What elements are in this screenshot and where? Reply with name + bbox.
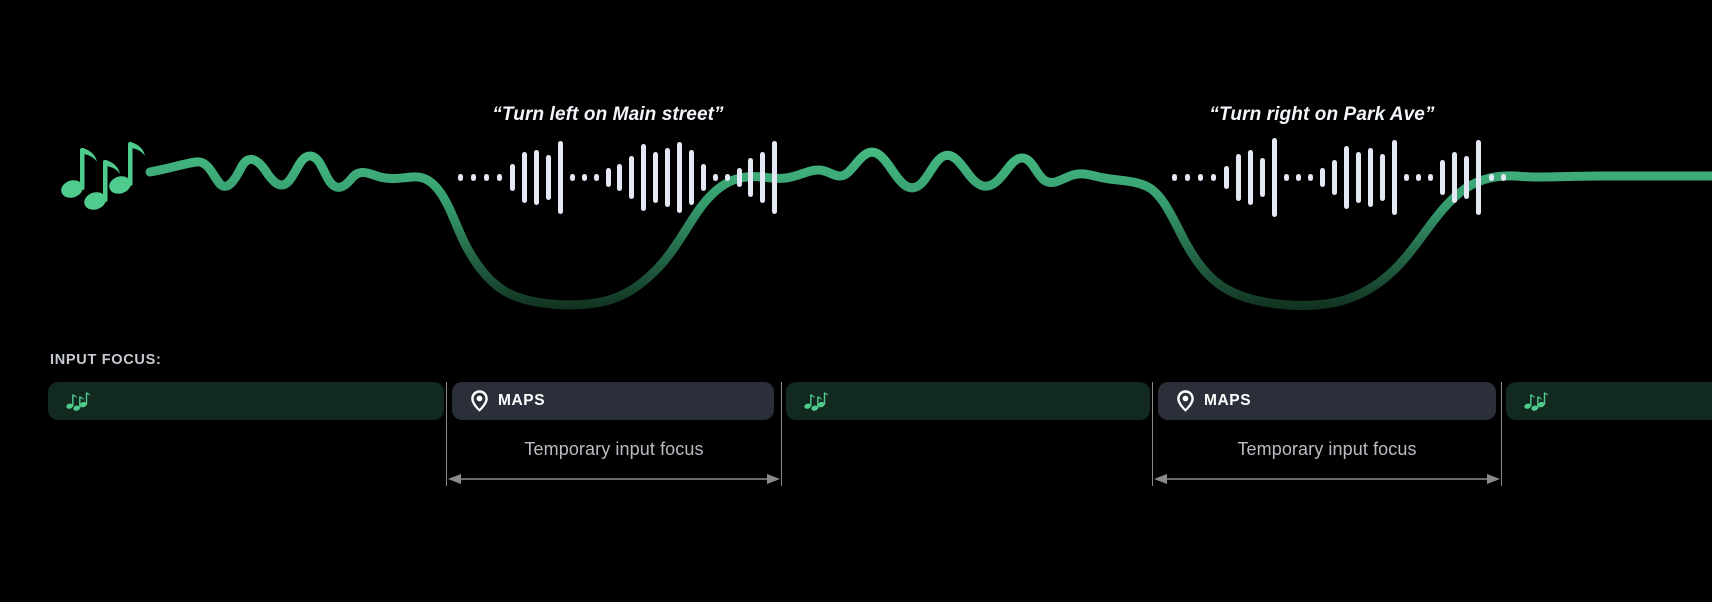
map-pin-icon	[470, 390, 489, 413]
temporary-focus-label-2: Temporary input focus	[1152, 439, 1502, 460]
music-notes-icon	[1524, 391, 1548, 411]
music-notes-icon	[804, 391, 828, 411]
speech-bars-segment-1	[458, 141, 777, 214]
speech-bars-segment-2	[1172, 138, 1506, 217]
focus-track-audio-2[interactable]	[786, 382, 1150, 420]
temporary-focus-label-1: Temporary input focus	[446, 439, 782, 460]
diagram-canvas: “Turn left on Main street” “Turn right o…	[0, 0, 1712, 602]
utterance-label-1: “Turn left on Main street”	[492, 104, 723, 126]
focus-track-audio-3[interactable]	[1506, 382, 1712, 420]
span-double-arrow	[446, 472, 782, 486]
span-edge-right	[1501, 382, 1502, 486]
focus-track-audio-1[interactable]	[48, 382, 444, 420]
span-edge-right	[781, 382, 782, 486]
focus-track-maps-2[interactable]: MAPS	[1158, 382, 1496, 420]
span-edge-left	[446, 382, 447, 486]
utterance-label-2: “Turn right on Park Ave”	[1209, 104, 1434, 126]
input-focus-caption: INPUT FOCUS:	[50, 352, 162, 368]
focus-track-label-4: MAPS	[1204, 392, 1251, 410]
music-notes-icon	[66, 391, 90, 411]
input-focus-section: INPUT FOCUS:	[0, 340, 1712, 602]
audio-waveform-graphic	[0, 0, 1712, 340]
span-edge-left	[1152, 382, 1153, 486]
span-double-arrow	[1152, 472, 1502, 486]
music-notes-icon	[59, 142, 145, 212]
map-pin-icon	[1176, 390, 1195, 413]
waveform-area: “Turn left on Main street” “Turn right o…	[0, 0, 1712, 340]
focus-track-label-2: MAPS	[498, 392, 545, 410]
focus-track-maps-1[interactable]: MAPS	[452, 382, 774, 420]
